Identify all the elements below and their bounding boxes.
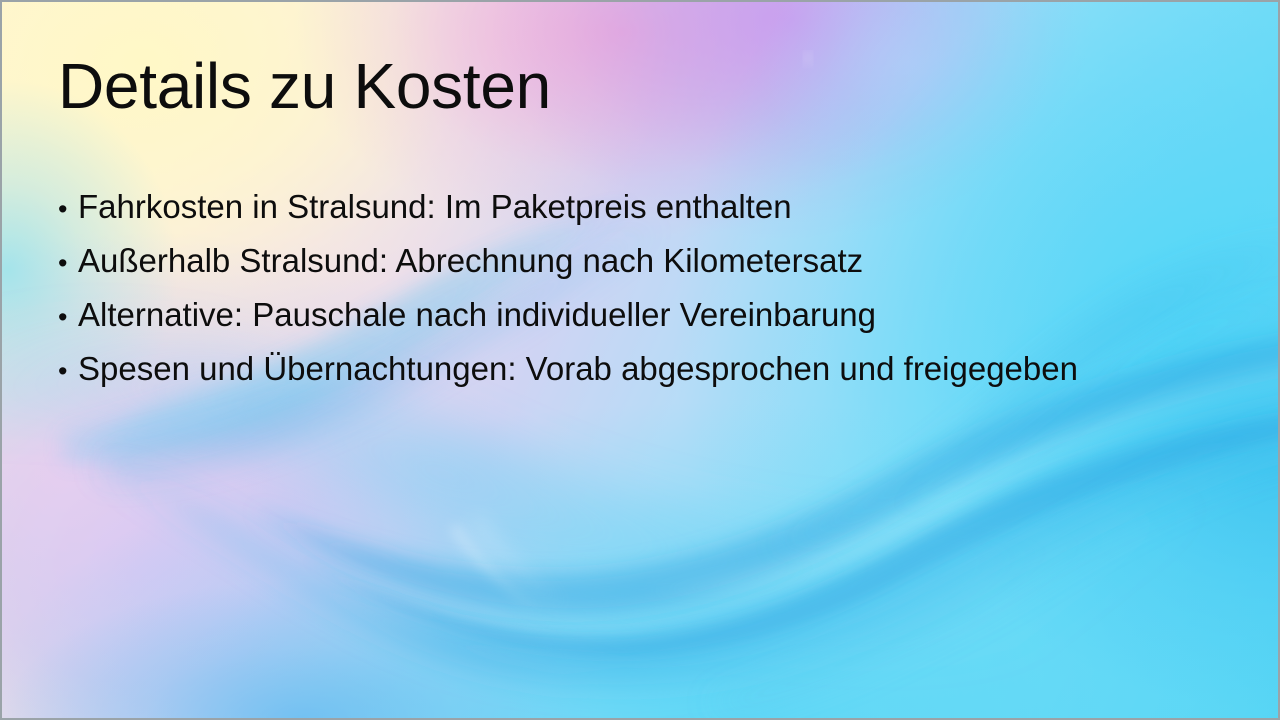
list-item-label: Fahrkosten in Stralsund: Im Paketpreis e… — [78, 188, 792, 226]
list-item-label: Außerhalb Stralsund: Abrechnung nach Kil… — [78, 242, 863, 280]
bullet-list: • Fahrkosten in Stralsund: Im Paketpreis… — [58, 188, 1198, 404]
list-item: • Alternative: Pauschale nach individuel… — [58, 296, 1198, 350]
bullet-point-icon: • — [58, 358, 78, 385]
slide-content: Details zu Kosten • Fahrkosten in Strals… — [2, 2, 1278, 718]
bullet-point-icon: • — [58, 196, 78, 223]
bullet-point-icon: • — [58, 250, 78, 277]
presentation-slide: Details zu Kosten • Fahrkosten in Strals… — [0, 0, 1280, 720]
list-item-label: Spesen und Übernachtungen: Vorab abgespr… — [78, 350, 1078, 388]
page-title: Details zu Kosten — [58, 54, 551, 118]
list-item: • Fahrkosten in Stralsund: Im Paketpreis… — [58, 188, 1198, 242]
list-item: • Außerhalb Stralsund: Abrechnung nach K… — [58, 242, 1198, 296]
list-item: • Spesen und Übernachtungen: Vorab abges… — [58, 350, 1198, 404]
list-item-label: Alternative: Pauschale nach individuelle… — [78, 296, 876, 334]
bullet-point-icon: • — [58, 304, 78, 331]
